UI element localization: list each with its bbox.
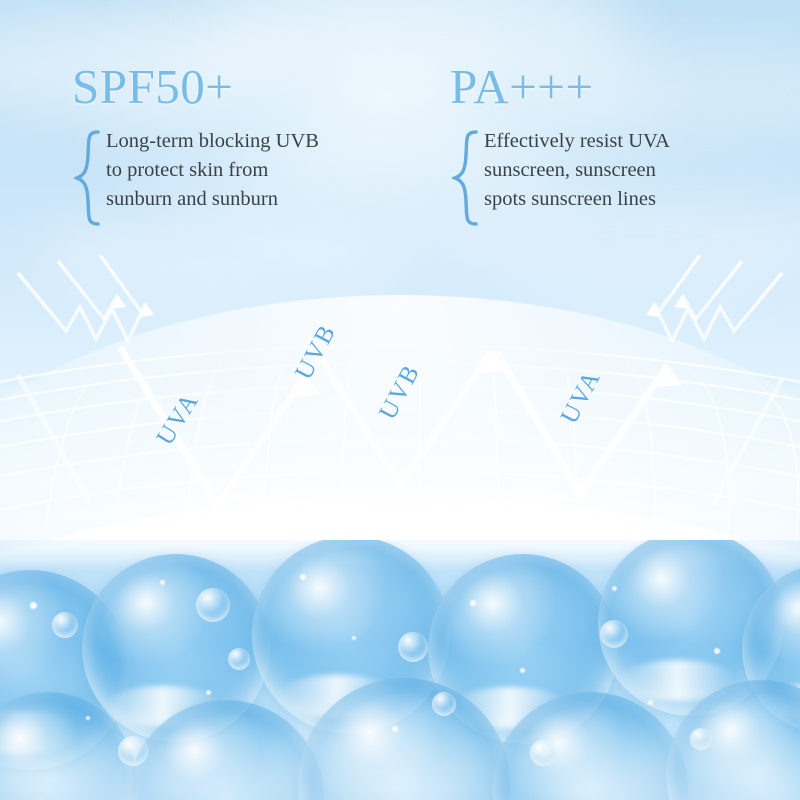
headline-pa: PA+++ [450,62,790,111]
sunscreen-poster: UVA UVB UVB UVA SPF50+ Long-term blockin… [0,0,800,800]
left-curly-brace-icon [72,127,102,214]
sparkle [648,700,653,705]
headline-columns: SPF50+ Long-term blocking UVB to protect… [0,0,800,270]
left-curly-brace-icon [450,127,480,214]
sparkle [352,636,356,640]
column-spf: SPF50+ Long-term blocking UVB to protect… [72,62,432,214]
body-text-spf: Long-term blocking UVB to protect skin f… [102,127,319,214]
gel-bubble-icon [530,740,556,766]
headline-spf: SPF50+ [72,62,432,111]
sparkle [612,586,617,591]
sparkle [714,648,720,654]
sparkle [86,716,90,720]
gel-bubble-icon [228,648,250,670]
column-pa: PA+++ Effectively resist UVA sunscreen, … [450,62,790,214]
sparkle [30,602,37,609]
gel-bubble-icon [600,620,628,648]
sparkle [160,580,165,585]
gel-bubble-icon [196,588,230,622]
sparkle [300,574,306,580]
sparkle [470,600,476,606]
gel-bubble-icon [398,632,428,662]
gel-bubble-icon [432,692,456,716]
gel-bubble-icon [52,612,78,638]
sparkle [520,668,525,673]
sparkle [206,690,211,695]
body-text-pa: Effectively resist UVA sunscreen, sunscr… [480,127,670,214]
gel-bubbles-section [0,540,800,800]
